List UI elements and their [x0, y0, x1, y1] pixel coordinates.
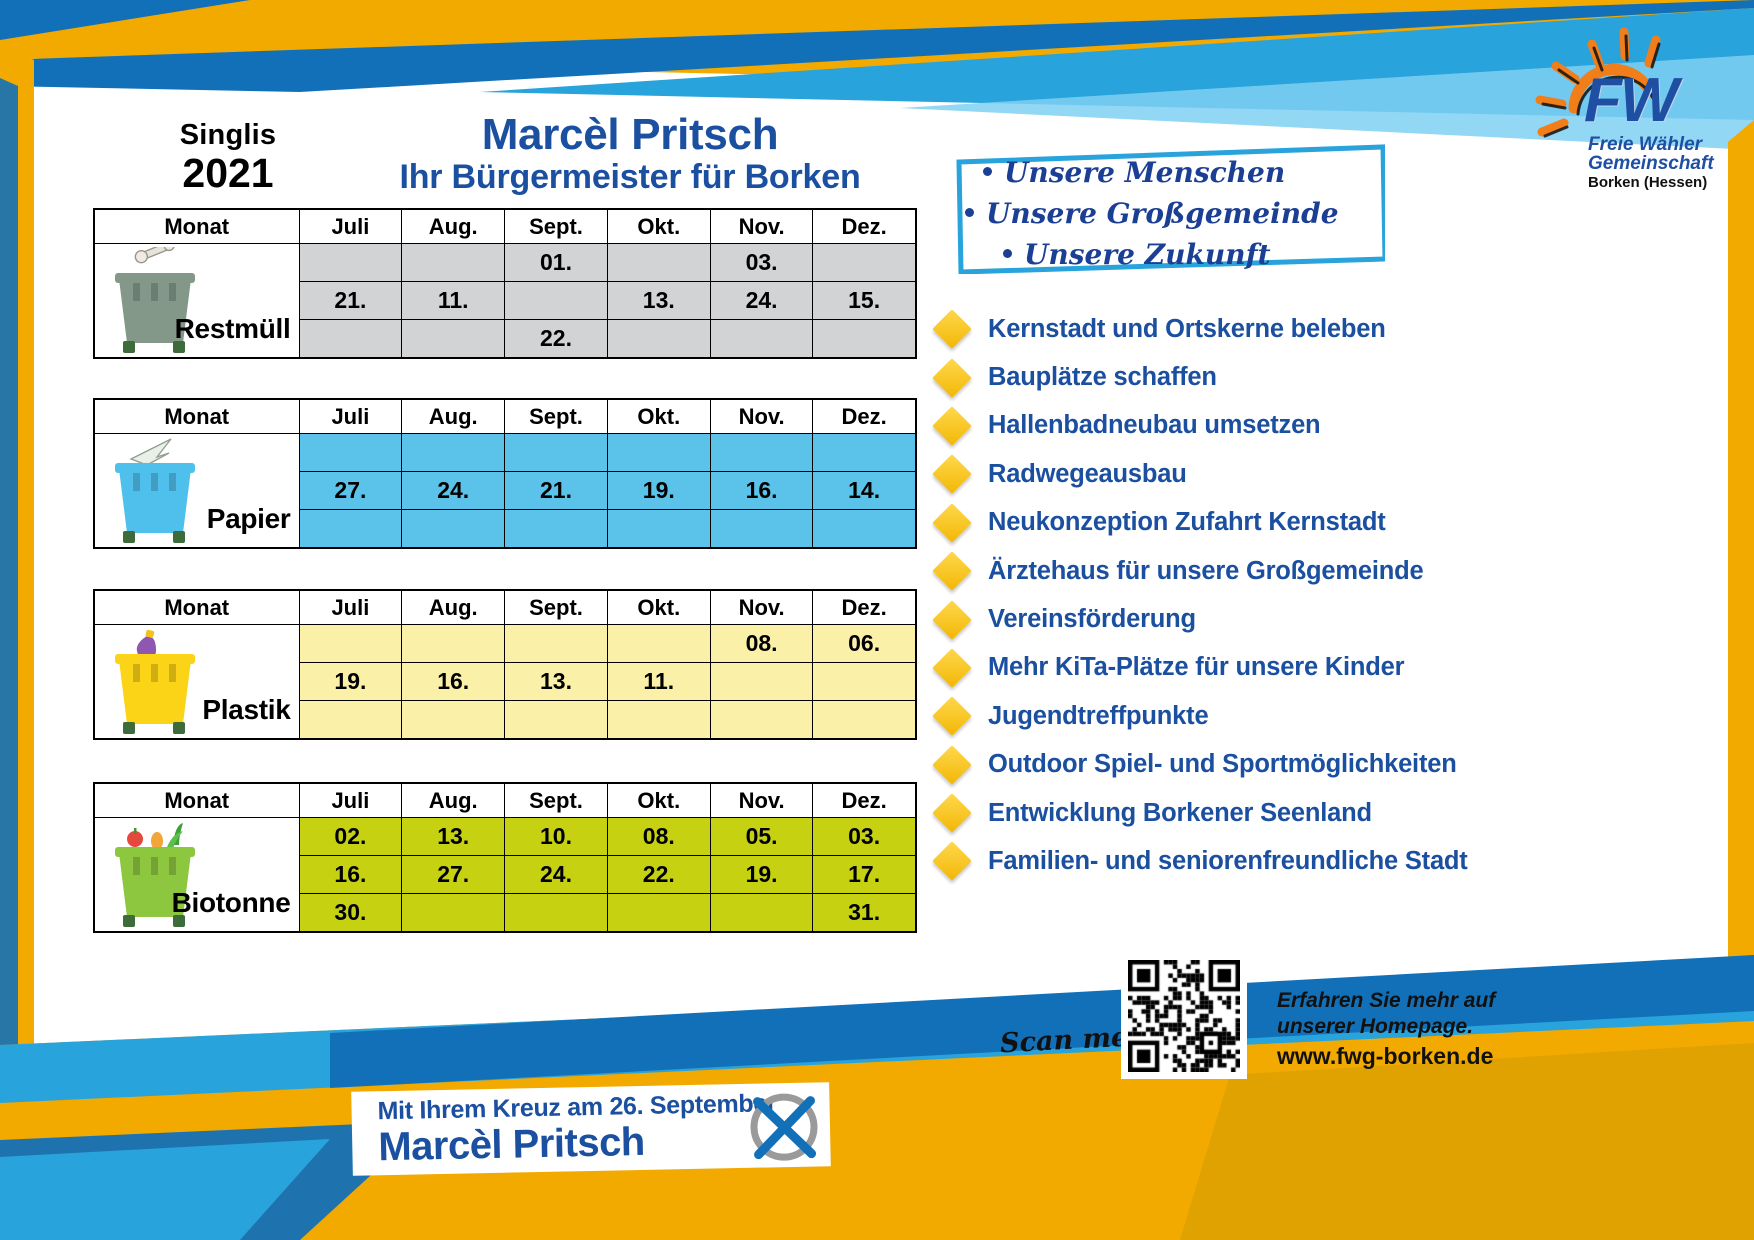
- waste-table-plastik: MonatJuliAug.Sept.Okt.Nov.Dez.Plastik08.…: [93, 589, 917, 740]
- goal-item: Entwicklung Borkener Seenland: [938, 789, 1728, 837]
- collection-date-cell: 16.: [710, 472, 813, 510]
- collection-date-cell: 16.: [299, 856, 402, 894]
- collection-date-cell: 22.: [505, 320, 608, 359]
- collection-date-cell: 16.: [402, 663, 505, 701]
- collection-date-cell: 30.: [299, 894, 402, 933]
- month-header-label: Monat: [94, 590, 299, 625]
- collection-date-cell: [607, 894, 710, 933]
- month-header-cell: Aug.: [402, 399, 505, 434]
- goal-item: Hallenbadneubau umsetzen: [938, 402, 1728, 450]
- collection-date-cell: [505, 434, 608, 472]
- goal-text: Ärztehaus für unsere Großgemeinde: [988, 557, 1424, 586]
- table-header-row: MonatJuliAug.Sept.Okt.Nov.Dez.: [94, 399, 916, 434]
- collection-date-cell: [505, 701, 608, 740]
- waste-type-label: Plastik: [202, 694, 290, 726]
- collection-date-cell: [505, 282, 608, 320]
- goal-item: Kernstadt und Ortskerne beleben: [938, 305, 1728, 353]
- collection-date-cell: 13.: [505, 663, 608, 701]
- goal-item: Outdoor Spiel- und Sportmöglichkeiten: [938, 741, 1728, 789]
- collection-date-cell: 27.: [299, 472, 402, 510]
- table-row: Restmüll01.03.: [94, 244, 916, 282]
- collection-date-cell: 17.: [813, 856, 916, 894]
- goal-text: Jugendtreffpunkte: [988, 702, 1208, 731]
- collection-date-cell: [402, 320, 505, 359]
- diamond-bullet-icon: [932, 358, 972, 398]
- collection-date-cell: [607, 320, 710, 359]
- month-header-cell: Dez.: [813, 783, 916, 818]
- collection-date-cell: [813, 244, 916, 282]
- blue-paper-bin-icon: [105, 437, 205, 545]
- collection-date-cell: [402, 510, 505, 549]
- slogan-box: Unsere Menschen Unsere Großgemeinde Unse…: [955, 144, 1385, 274]
- collection-date-cell: 03.: [813, 818, 916, 856]
- goal-item: Ärztehaus für unsere Großgemeinde: [938, 547, 1728, 595]
- waste-type-label: Restmüll: [175, 313, 291, 345]
- goal-item: Neukonzeption Zufahrt Kernstadt: [938, 499, 1728, 547]
- month-header-cell: Sept.: [505, 209, 608, 244]
- homepage-line2: unserer Homepage.: [1277, 1014, 1607, 1040]
- diamond-bullet-icon: [932, 455, 972, 495]
- collection-date-cell: 24.: [402, 472, 505, 510]
- waste-type-cell: Plastik: [94, 625, 299, 740]
- collection-date-cell: [813, 434, 916, 472]
- collection-date-cell: [710, 701, 813, 740]
- collection-date-cell: [607, 510, 710, 549]
- fw-logo: FW Freie Wähler Gemeinschaft Borken (Hes…: [1532, 22, 1732, 192]
- diamond-bullet-icon: [932, 648, 972, 688]
- diamond-bullet-icon: [932, 406, 972, 446]
- collection-date-cell: 03.: [710, 244, 813, 282]
- goal-item: Jugendtreffpunkte: [938, 692, 1728, 740]
- collection-date-cell: [402, 244, 505, 282]
- collection-date-cell: [402, 701, 505, 740]
- diamond-bullet-icon: [932, 600, 972, 640]
- collection-date-cell: 27.: [402, 856, 505, 894]
- collection-date-cell: 08.: [607, 818, 710, 856]
- goal-text: Mehr KiTa-Plätze für unsere Kinder: [988, 653, 1404, 682]
- qr-code-icon: [1121, 953, 1247, 1079]
- month-header-cell: Okt.: [607, 399, 710, 434]
- collection-date-cell: 15.: [813, 282, 916, 320]
- bottom-decoration: [0, 925, 1754, 1240]
- collection-date-cell: [402, 894, 505, 933]
- vote-banner-line2: Marcèl Pritsch: [378, 1120, 645, 1170]
- slogan-bullet-icon: [1003, 249, 1012, 258]
- month-header-cell: Juli: [299, 783, 402, 818]
- logo-initials: FW: [1584, 70, 1676, 132]
- waste-type-cell: Papier: [94, 434, 299, 549]
- goal-text: Entwicklung Borkener Seenland: [988, 799, 1372, 828]
- slogan-text: Unsere Menschen: [1004, 156, 1285, 189]
- month-header-cell: Nov.: [710, 590, 813, 625]
- collection-date-cell: [813, 320, 916, 359]
- table-row: Biotonne02.13.10.08.05.03.: [94, 818, 916, 856]
- town-name: Singlis: [118, 120, 338, 150]
- collection-date-cell: 13.: [607, 282, 710, 320]
- collection-date-cell: 22.: [607, 856, 710, 894]
- table-row: Plastik08.06.: [94, 625, 916, 663]
- collection-date-cell: [505, 625, 608, 663]
- goal-text: Hallenbadneubau umsetzen: [988, 411, 1320, 440]
- month-header-cell: Juli: [299, 590, 402, 625]
- flyer-canvas: FW Freie Wähler Gemeinschaft Borken (Hes…: [0, 0, 1754, 1240]
- collection-date-cell: [607, 434, 710, 472]
- goal-item: Bauplätze schaffen: [938, 353, 1728, 401]
- collection-date-cell: 24.: [710, 282, 813, 320]
- collection-date-cell: 05.: [710, 818, 813, 856]
- candidate-name: Marcèl Pritsch: [330, 112, 930, 158]
- month-header-label: Monat: [94, 783, 299, 818]
- diamond-bullet-icon: [932, 697, 972, 737]
- collection-date-cell: 21.: [505, 472, 608, 510]
- slogan-text: Unsere Zukunft: [1024, 238, 1271, 271]
- month-header-cell: Sept.: [505, 590, 608, 625]
- table-header-row: MonatJuliAug.Sept.Okt.Nov.Dez.: [94, 209, 916, 244]
- logo-line3: Borken (Hessen): [1588, 174, 1707, 191]
- goal-text: Radwegeausbau: [988, 460, 1187, 489]
- diamond-bullet-icon: [932, 793, 972, 833]
- goal-item: Mehr KiTa-Plätze für unsere Kinder: [938, 644, 1728, 692]
- calendar-year: 2021: [118, 152, 338, 195]
- slogan-item-2: Unsere Zukunft: [1003, 238, 1271, 271]
- slogan-text: Unsere Großgemeinde: [986, 197, 1339, 230]
- table-header-row: MonatJuliAug.Sept.Okt.Nov.Dez.: [94, 590, 916, 625]
- month-header-cell: Okt.: [607, 209, 710, 244]
- collection-date-cell: 08.: [710, 625, 813, 663]
- month-header-cell: Nov.: [710, 783, 813, 818]
- month-header-cell: Juli: [299, 209, 402, 244]
- table-header-row: MonatJuliAug.Sept.Okt.Nov.Dez.: [94, 783, 916, 818]
- month-header-cell: Nov.: [710, 209, 813, 244]
- collection-date-cell: [813, 510, 916, 549]
- month-header-cell: Juli: [299, 399, 402, 434]
- slogan-bullet-icon: [965, 208, 974, 217]
- goal-item: Vereinsförderung: [938, 595, 1728, 643]
- collection-date-cell: [710, 510, 813, 549]
- month-header-cell: Dez.: [813, 399, 916, 434]
- homepage-block: Erfahren Sie mehr auf unserer Homepage. …: [1277, 988, 1607, 1070]
- collection-date-cell: [607, 244, 710, 282]
- collection-date-cell: [299, 510, 402, 549]
- collection-date-cell: 21.: [299, 282, 402, 320]
- collection-date-cell: 31.: [813, 894, 916, 933]
- collection-date-cell: 06.: [813, 625, 916, 663]
- goal-text: Outdoor Spiel- und Sportmöglichkeiten: [988, 750, 1457, 779]
- collection-date-cell: 19.: [607, 472, 710, 510]
- slogan-list: Unsere Menschen Unsere Großgemeinde Unse…: [955, 144, 1385, 274]
- waste-type-label: Biotonne: [172, 887, 291, 919]
- collection-date-cell: [299, 320, 402, 359]
- diamond-bullet-icon: [932, 842, 972, 882]
- goal-item: Radwegeausbau: [938, 450, 1728, 498]
- collection-date-cell: [710, 894, 813, 933]
- month-header-cell: Aug.: [402, 590, 505, 625]
- collection-date-cell: [402, 434, 505, 472]
- month-header-cell: Sept.: [505, 399, 608, 434]
- goal-text: Familien- und seniorenfreundliche Stadt: [988, 847, 1468, 876]
- goal-text: Kernstadt und Ortskerne beleben: [988, 315, 1386, 344]
- collection-date-cell: 19.: [299, 663, 402, 701]
- month-header-cell: Dez.: [813, 209, 916, 244]
- collection-date-cell: [710, 434, 813, 472]
- collection-date-cell: [299, 244, 402, 282]
- homepage-url: www.fwg-borken.de: [1277, 1042, 1607, 1070]
- x-cross-ballot-icon: [747, 1090, 820, 1163]
- collection-date-cell: [299, 625, 402, 663]
- month-header-cell: Aug.: [402, 209, 505, 244]
- collection-date-cell: [607, 625, 710, 663]
- collection-date-cell: 24.: [505, 856, 608, 894]
- waste-table-papier: MonatJuliAug.Sept.Okt.Nov.Dez.Papier27.2…: [93, 398, 917, 549]
- slogan-bullet-icon: [983, 167, 992, 176]
- collection-date-cell: 19.: [710, 856, 813, 894]
- collection-date-cell: [505, 510, 608, 549]
- collection-date-cell: [299, 701, 402, 740]
- yellow-plastic-bin-icon: [105, 628, 205, 736]
- goal-text: Neukonzeption Zufahrt Kernstadt: [988, 508, 1386, 537]
- collection-date-cell: [813, 701, 916, 740]
- waste-type-cell: Restmüll: [94, 244, 299, 359]
- month-header-cell: Okt.: [607, 590, 710, 625]
- collection-date-cell: 01.: [505, 244, 608, 282]
- month-header-label: Monat: [94, 209, 299, 244]
- vote-banner: Mit Ihrem Kreuz am 26. September Marcèl …: [351, 1082, 831, 1176]
- collection-date-cell: [505, 894, 608, 933]
- collection-date-cell: [402, 625, 505, 663]
- month-header-label: Monat: [94, 399, 299, 434]
- month-header-cell: Dez.: [813, 590, 916, 625]
- goal-text: Vereinsförderung: [988, 605, 1196, 634]
- place-year-block: Singlis 2021: [118, 120, 338, 195]
- month-header-cell: Nov.: [710, 399, 813, 434]
- diamond-bullet-icon: [932, 745, 972, 785]
- goal-text: Bauplätze schaffen: [988, 363, 1217, 392]
- month-header-cell: Okt.: [607, 783, 710, 818]
- logo-line2: Gemeinschaft: [1588, 153, 1714, 175]
- diamond-bullet-icon: [932, 503, 972, 543]
- waste-table-biotonne: MonatJuliAug.Sept.Okt.Nov.Dez.Biotonne02…: [93, 782, 917, 933]
- collection-date-cell: [710, 320, 813, 359]
- waste-type-cell: Biotonne: [94, 818, 299, 933]
- collection-date-cell: 14.: [813, 472, 916, 510]
- collection-date-cell: 13.: [402, 818, 505, 856]
- goals-list: Kernstadt und Ortskerne belebenBauplätze…: [938, 305, 1728, 886]
- collection-date-cell: 02.: [299, 818, 402, 856]
- month-header-cell: Sept.: [505, 783, 608, 818]
- slogan-item-0: Unsere Menschen: [983, 156, 1285, 189]
- collection-date-cell: 10.: [505, 818, 608, 856]
- waste-type-label: Papier: [207, 503, 291, 535]
- collection-date-cell: [813, 663, 916, 701]
- candidate-role: Ihr Bürgermeister für Borken: [330, 159, 930, 196]
- table-row: Papier: [94, 434, 916, 472]
- collection-date-cell: [710, 663, 813, 701]
- diamond-bullet-icon: [932, 309, 972, 349]
- collection-date-cell: 11.: [402, 282, 505, 320]
- scan-me-label: Scan me: [999, 1022, 1130, 1060]
- collection-date-cell: [607, 701, 710, 740]
- waste-table-restmuell: MonatJuliAug.Sept.Okt.Nov.Dez.Restmüll01…: [93, 208, 917, 359]
- candidate-headline: Marcèl Pritsch Ihr Bürgermeister für Bor…: [330, 112, 930, 196]
- diamond-bullet-icon: [932, 551, 972, 591]
- goal-item: Familien- und seniorenfreundliche Stadt: [938, 837, 1728, 885]
- collection-date-cell: [299, 434, 402, 472]
- homepage-line1: Erfahren Sie mehr auf: [1277, 988, 1607, 1014]
- slogan-item-1: Unsere Großgemeinde: [965, 197, 1339, 230]
- month-header-cell: Aug.: [402, 783, 505, 818]
- collection-date-cell: 11.: [607, 663, 710, 701]
